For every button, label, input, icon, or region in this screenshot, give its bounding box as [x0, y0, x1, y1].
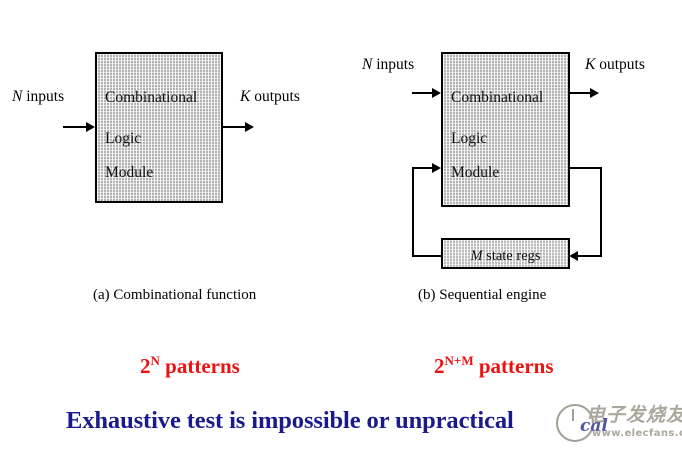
figure-b-input-arrowhead — [432, 88, 441, 98]
figure-b-input-var: N — [362, 56, 372, 73]
figure-a-formula-base: 2 — [140, 354, 151, 378]
mouse-circle-icon — [556, 404, 594, 442]
figure-a-formula-exponent: N — [151, 353, 160, 368]
figure-b-logic-block: Combinational Logic Module — [441, 52, 570, 207]
watermark: 电子发烧友 cal www.elecfans.com — [556, 398, 682, 450]
figure-b-input-text: inputs — [372, 56, 414, 73]
figure-b-output-text: outputs — [595, 56, 645, 73]
figure-b-formula: 2N+M patterns — [434, 356, 554, 377]
feedback-left-vertical-segment — [412, 167, 414, 257]
feedback-right-arrowhead — [569, 251, 578, 261]
figure-b-state-regs-text: M state regs — [443, 248, 568, 265]
figure-b-output-arrowhead — [590, 88, 599, 98]
figure-b-output-label: K outputs — [585, 57, 645, 73]
figure-b-caption: (b) Sequential engine — [418, 288, 546, 303]
feedback-right-top-segment — [570, 167, 602, 169]
figure-b-block-line-2: Logic — [451, 131, 487, 147]
figure-b-formula-exponent: N+M — [445, 353, 474, 368]
figure-b: N inputs Combinational Logic Module K ou… — [0, 0, 682, 300]
feedback-left-arrowhead — [432, 163, 441, 173]
feedback-right-bottom-segment — [578, 255, 602, 257]
figure-b-block-line-3: Module — [451, 165, 499, 181]
slide-canvas: N inputs Combinational Logic Module K ou… — [0, 0, 682, 451]
figure-b-state-regs-block: M state regs — [441, 238, 570, 269]
figure-a-formula-word: patterns — [160, 354, 240, 378]
watermark-chinese-text: 电子发烧友 — [586, 400, 682, 427]
headline-text: Exhaustive test is impossible or unpract… — [66, 409, 514, 434]
figure-b-input-label: N inputs — [362, 57, 414, 73]
figure-b-regs-var: M — [470, 248, 482, 264]
feedback-right-vertical-segment — [600, 167, 602, 257]
figure-b-formula-word: patterns — [474, 354, 554, 378]
figure-a-formula: 2N patterns — [140, 356, 240, 377]
feedback-left-bottom-segment — [412, 255, 442, 257]
figure-b-block-line-1: Combinational — [451, 90, 543, 106]
feedback-left-top-segment — [412, 167, 434, 169]
figure-b-output-var: K — [585, 56, 595, 73]
figure-b-output-wire — [570, 92, 592, 94]
watermark-url-text: www.elecfans.com — [592, 428, 682, 439]
figure-b-input-wire — [412, 92, 434, 94]
watermark-mark-text: cal — [580, 416, 608, 436]
figure-b-regs-label: state regs — [483, 248, 541, 264]
figure-b-formula-base: 2 — [434, 354, 445, 378]
